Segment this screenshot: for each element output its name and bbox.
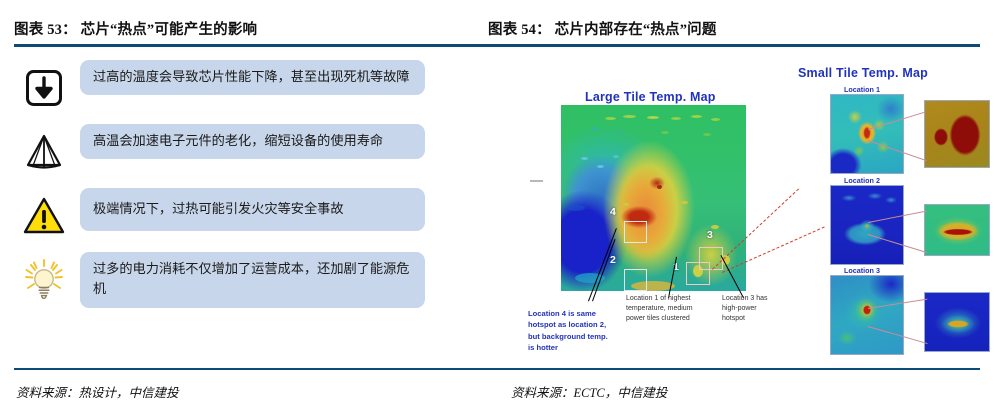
list-item-text: 过高的温度会导致芯片性能下降，甚至出现死机等故障 xyxy=(80,60,425,95)
marker-box-3 xyxy=(699,247,723,270)
marker-label-4: 4 xyxy=(610,206,616,218)
pyramid-wireframe-icon xyxy=(14,124,74,180)
location-3-zoom-panel xyxy=(924,292,990,352)
marker-box-2 xyxy=(624,269,647,291)
list-item-text: 极端情况下，过热可能引发火灾等安全事故 xyxy=(80,188,425,231)
marker-box-4 xyxy=(624,221,647,243)
location-2-tile-map xyxy=(830,185,904,265)
location-3-tile-map xyxy=(830,275,904,355)
warning-triangle-icon xyxy=(14,188,74,244)
marker-label-2: 2 xyxy=(610,254,616,266)
list-item: 高温会加速电子元件的老化，缩短设备的使用寿命 xyxy=(14,124,425,180)
figure-53-source: 资料来源：热设计，中信建投 xyxy=(16,382,179,401)
annotation-location-1: Location 1 of highest temperature, mediu… xyxy=(626,294,706,324)
header-divider xyxy=(14,44,980,47)
small-tile-map-label: Small Tile Temp. Map xyxy=(798,66,928,80)
down-arrow-icon xyxy=(14,60,74,116)
marker-label-3: 3 xyxy=(707,229,713,241)
figure-54-title: 图表 54： 芯片内部存在“热点”问题 xyxy=(488,18,717,39)
axis-tick-mark xyxy=(530,180,543,182)
annotation-location-4: Location 4 is same hotspot as location 2… xyxy=(528,308,638,354)
thermal-figure: Large Tile Temp. Map Small Tile Temp. Ma… xyxy=(500,54,990,362)
footer-divider xyxy=(14,368,980,370)
large-tile-map-label: Large Tile Temp. Map xyxy=(585,90,716,104)
list-item: 过高的温度会导致芯片性能下降，甚至出现死机等故障 xyxy=(14,60,425,116)
location-2-zoom-panel xyxy=(924,204,990,256)
impact-list: 过高的温度会导致芯片性能下降，甚至出现死机等故障 高温会加速电子元件的老化，缩短… xyxy=(14,56,494,361)
location-1-zoom-panel xyxy=(924,100,990,168)
annotation-location-3: Location 3 has high-power hotspot xyxy=(722,294,792,324)
figure-53-title: 图表 53： 芯片“热点”可能产生的影响 xyxy=(14,18,257,39)
figure-page: 图表 53： 芯片“热点”可能产生的影响 图表 54： 芯片内部存在“热点”问题… xyxy=(0,0,994,405)
lightbulb-icon xyxy=(14,252,74,308)
location-2-caption: Location 2 xyxy=(844,176,880,185)
location-3-caption: Location 3 xyxy=(844,266,880,275)
list-item-text: 高温会加速电子元件的老化，缩短设备的使用寿命 xyxy=(80,124,425,159)
figure-54-source: 资料来源：ECTC，中信建投 xyxy=(511,382,667,401)
list-item: 极端情况下，过热可能引发火灾等安全事故 xyxy=(14,188,425,244)
location-1-caption: Location 1 xyxy=(844,85,880,94)
location-1-tile-map xyxy=(830,94,904,174)
list-item: 过多的电力消耗不仅增加了运营成本，还加剧了能源危机 xyxy=(14,252,425,308)
list-item-text: 过多的电力消耗不仅增加了运营成本，还加剧了能源危机 xyxy=(80,252,425,308)
